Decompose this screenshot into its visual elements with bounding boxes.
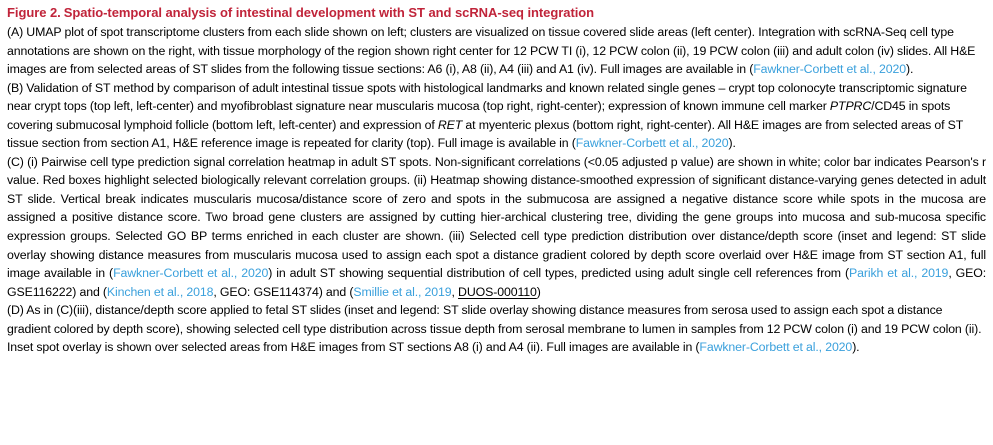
panel-d-caption: (D) As in (C)(iii), distance/depth score… bbox=[7, 301, 986, 357]
citation-link[interactable]: Smillie et al., 2019 bbox=[353, 285, 451, 299]
accession-link[interactable]: DUOS-000110 bbox=[458, 285, 537, 299]
gene-symbol: PTPRC bbox=[830, 99, 871, 113]
citation-link[interactable]: Fawkner-Corbett et al., 2020 bbox=[699, 340, 852, 354]
figure-title-text: Spatio-temporal analysis of intestinal d… bbox=[64, 5, 594, 20]
citation-link[interactable]: Kinchen et al., 2018 bbox=[107, 285, 213, 299]
citation-link[interactable]: Fawkner-Corbett et al., 2020 bbox=[113, 266, 268, 280]
figure-caption-block: Figure 2.Spatio-temporal analysis of int… bbox=[0, 0, 993, 357]
citation-link[interactable]: Parikh et al., 2019 bbox=[849, 266, 948, 280]
panel-b-caption: (B) Validation of ST method by compariso… bbox=[7, 79, 986, 153]
panel-c-caption: (C) (i) Pairwise cell type prediction si… bbox=[7, 153, 986, 301]
gene-symbol: RET bbox=[438, 118, 462, 132]
figure-label: Figure 2. bbox=[7, 5, 61, 20]
citation-link[interactable]: Fawkner-Corbett et al., 2020 bbox=[753, 62, 906, 76]
citation-link[interactable]: Fawkner-Corbett et al., 2020 bbox=[576, 136, 729, 150]
panel-a-caption: (A) UMAP plot of spot transcriptome clus… bbox=[7, 23, 986, 79]
figure-title: Figure 2.Spatio-temporal analysis of int… bbox=[7, 3, 986, 22]
